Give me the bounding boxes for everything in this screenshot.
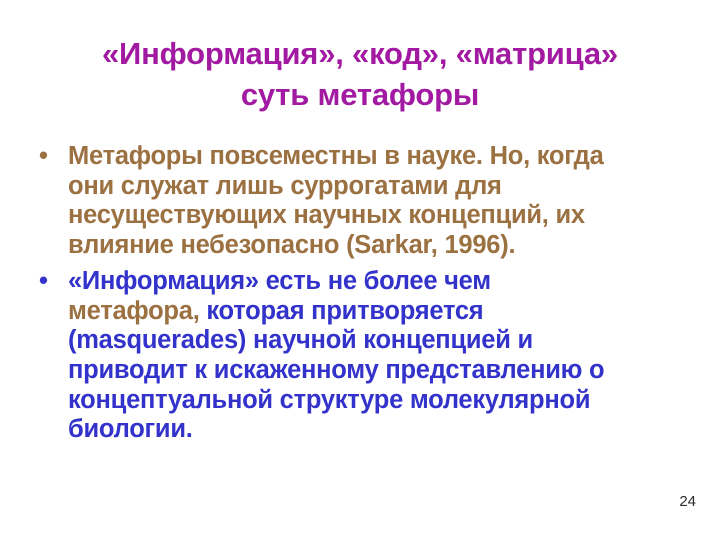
presentation-slide: «Информация», «код», «матрица» суть мета… <box>0 0 720 540</box>
slide-title: «Информация», «код», «матрица» суть мета… <box>36 34 684 116</box>
bullet-1-line-1: Метафоры повсеместны в науке. Но, когда <box>68 142 690 172</box>
bullet-2-line-2: метафора, которая притворяется <box>68 297 690 327</box>
bullet-marker-icon: • <box>39 142 48 172</box>
bullet-2-token-metafora: метафора, <box>68 297 200 325</box>
bullet-1-line-3: несуществующих научных концепций, их <box>68 201 690 231</box>
bullet-2-line-3: (masquerades) научной концепцией и <box>68 326 690 356</box>
bullet-2-line-1: «Информация» есть не более чем <box>68 267 690 297</box>
slide-title-line-1: «Информация», «код», «матрица» <box>36 34 684 75</box>
bullet-item-1: • Метафоры повсеместны в науке. Но, когд… <box>30 142 690 261</box>
page-number: 24 <box>679 493 696 510</box>
slide-title-line-2: суть метафоры <box>36 75 684 116</box>
bullet-2-token-kotoraya: которая притворяется <box>200 297 484 325</box>
bullet-marker-icon: • <box>39 267 48 297</box>
bullet-2-line-5: концептуальной структуре молекулярной <box>68 386 690 416</box>
slide-body: • Метафоры повсеместны в науке. Но, когд… <box>30 142 690 449</box>
bullet-2-line-4: приводит к искаженному представлению о <box>68 356 690 386</box>
bullet-item-2: • «Информация» есть не более чем метафор… <box>30 267 690 445</box>
bullet-1-line-4: влияние небезопасно (Sarkar, 1996). <box>68 231 690 261</box>
bullet-2-line-6: биологии. <box>68 415 690 445</box>
bullet-1-line-2: они служат лишь суррогатами для <box>68 172 690 202</box>
